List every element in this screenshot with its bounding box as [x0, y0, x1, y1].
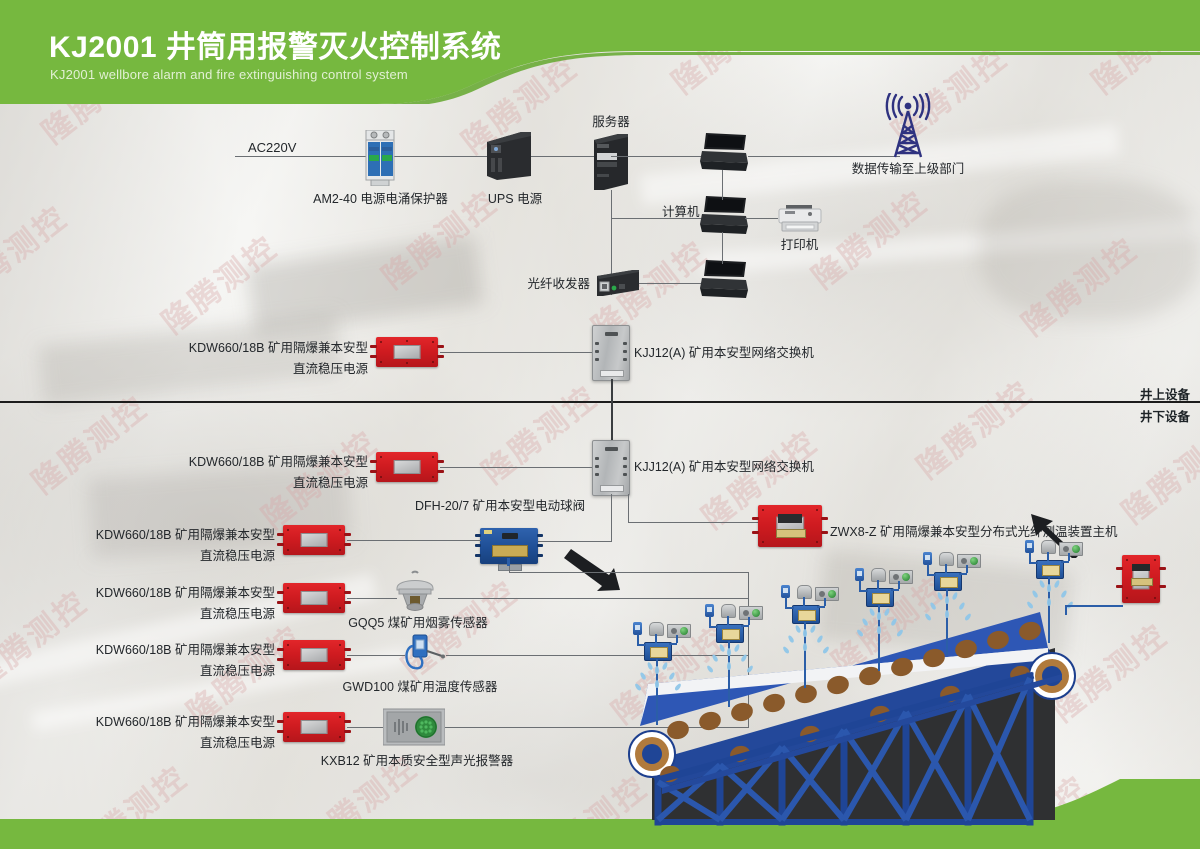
station-wire — [859, 590, 868, 592]
surge-protector-label: AM2-40 电源电涌保护器 — [303, 190, 458, 209]
spray-drop — [803, 643, 807, 651]
computer-3[interactable] — [700, 260, 748, 305]
station-smoke-sensor-icon — [871, 568, 886, 582]
psu-4-to-temp-link — [347, 655, 405, 656]
underground-psu-1-link — [440, 467, 592, 468]
station-alarm-icon — [667, 624, 691, 638]
computer-chain-2 — [722, 232, 723, 264]
station-wire — [709, 616, 711, 626]
surge-protector-icon — [358, 130, 402, 186]
spray-drop — [727, 662, 731, 670]
psu-1-line2: 直流稳压电源 — [293, 476, 368, 490]
station-control-box-icon — [644, 642, 672, 661]
junction-wire-drop — [1065, 605, 1067, 615]
station-wire — [669, 643, 677, 645]
station-wire — [959, 573, 967, 575]
desktop-computer-icon — [700, 133, 748, 173]
underground-psu-3[interactable] — [283, 583, 345, 613]
spray-drop — [877, 612, 881, 620]
surge-protector-device[interactable] — [358, 130, 402, 191]
psu-3-to-smoke-link — [347, 598, 397, 599]
station-control-box-icon — [1036, 560, 1064, 579]
underground-psu-1-label: KDW660/18B 矿用隔爆兼本安型 直流稳压电源 — [168, 452, 368, 494]
station-alarm-icon — [815, 587, 839, 601]
conveyor-junction-box[interactable] — [1122, 555, 1160, 603]
server-tower-icon — [594, 134, 628, 190]
station-wire — [1029, 562, 1038, 564]
station-wire — [785, 607, 794, 609]
above-ground-label: 井上设备 — [1140, 386, 1190, 405]
smoke-sensor-device[interactable] — [392, 570, 438, 617]
underground-psu-2[interactable] — [283, 525, 345, 555]
spray-drop — [877, 626, 881, 634]
desktop-computer-icon — [700, 196, 748, 236]
station-wire — [803, 597, 805, 606]
page-subtitle: KJ2001 wellbore alarm and fire extinguis… — [50, 67, 408, 82]
psu-2-to-valve-link — [347, 540, 481, 541]
station-wire — [727, 616, 729, 625]
station-smoke-sensor-icon — [721, 604, 736, 618]
station-control-box-icon — [934, 572, 962, 591]
media-converter-label: 光纤收发器 — [505, 275, 590, 294]
station-smoke-sensor-icon — [649, 622, 664, 636]
station-wire — [945, 564, 947, 573]
station-wire — [1029, 552, 1031, 562]
surface-underground-divider — [0, 401, 1200, 403]
psu-4-line2: 直流稳压电源 — [200, 664, 275, 678]
station-wire — [655, 634, 657, 643]
spray-drop — [727, 648, 731, 656]
station-wire — [891, 589, 899, 591]
psu-3-line2: 直流稳压电源 — [200, 607, 275, 621]
station-alarm-icon — [1059, 542, 1083, 556]
surface-switch-device[interactable] — [592, 325, 630, 381]
station-wire — [824, 598, 826, 606]
station-wire — [785, 597, 787, 607]
psu-4-line1: KDW660/18B 矿用隔爆兼本安型 — [96, 643, 275, 657]
smoke-sensor-icon — [392, 570, 438, 612]
diagram-canvas: 隆腾测控 隆腾测控 隆腾测控 隆腾测控 隆腾测控 隆腾测控 隆腾测控 隆腾测控 … — [0, 0, 1200, 849]
station-wire — [859, 580, 861, 590]
uplink-line — [748, 156, 900, 157]
station-alarm-icon — [739, 606, 763, 620]
fiber-media-converter-icon — [597, 270, 639, 296]
psu-1-line1: KDW660/18B 矿用隔爆兼本安型 — [189, 455, 368, 469]
psu-5-to-alarm-link — [347, 727, 385, 728]
underground-psu-1[interactable] — [376, 452, 438, 482]
switch-to-dts-vertical — [628, 494, 629, 522]
station-wire — [927, 564, 929, 574]
station-alarm-icon — [889, 570, 913, 584]
underground-psu-4[interactable] — [283, 640, 345, 670]
spray-drop — [1047, 584, 1051, 592]
station-wire — [748, 617, 750, 625]
sound-light-alarm-label: KXB12 矿用本质安全型声光报警器 — [312, 752, 522, 771]
station-wire — [709, 626, 718, 628]
uplink-label: 数据传输至上级部门 — [840, 160, 976, 179]
backbone-vertical — [611, 379, 613, 447]
server-to-computer-link — [611, 156, 709, 157]
spray-drop — [1047, 598, 1051, 606]
surface-psu-label: KDW660/18B 矿用隔爆兼本安型 直流稳压电源 — [168, 338, 368, 380]
spray-drop — [655, 666, 659, 674]
ups-device[interactable] — [487, 132, 531, 185]
ups-icon — [487, 132, 531, 180]
psu-5-line1: KDW660/18B 矿用隔爆兼本安型 — [96, 715, 275, 729]
ac-power-label: AC220V — [248, 138, 296, 158]
temperature-sensor-device[interactable] — [398, 633, 446, 680]
computer-2[interactable] — [700, 196, 748, 241]
uplink-antenna[interactable] — [882, 93, 934, 159]
underground-switch-device[interactable] — [592, 440, 630, 496]
spray-drop — [945, 610, 949, 618]
server-device[interactable] — [594, 134, 628, 195]
smoke-sensor-label: GQQ5 煤矿用烟雾传感器 — [348, 614, 488, 633]
psu-2-line1: KDW660/18B 矿用隔爆兼本安型 — [96, 528, 275, 542]
station-wire — [966, 565, 968, 573]
computer-row3-link — [636, 283, 709, 284]
computer-label: 计算机 — [662, 203, 700, 222]
station-control-box-icon — [866, 588, 894, 607]
printer-label: 打印机 — [762, 236, 837, 255]
underground-label: 井下设备 — [1140, 408, 1190, 427]
spray-drop — [803, 629, 807, 637]
printer-device[interactable] — [776, 205, 824, 240]
page-title: KJ2001 井筒用报警灭火控制系统 — [49, 22, 501, 66]
underground-psu-4-label: KDW660/18B 矿用隔爆兼本安型 直流稳压电源 — [75, 640, 275, 682]
station-wire — [676, 635, 678, 643]
surface-psu-device[interactable] — [376, 337, 438, 367]
temperature-sensor-icon — [398, 633, 446, 675]
station-smoke-sensor-icon — [939, 552, 954, 566]
psu-5-line2: 直流稳压电源 — [200, 736, 275, 750]
station-wire — [637, 644, 646, 646]
spray-drop — [655, 680, 659, 688]
electric-ball-valve-device[interactable] — [480, 528, 538, 564]
underground-switch-label: KJJ12(A) 矿用本安型网络交换机 — [634, 458, 814, 477]
printer-link — [745, 218, 778, 219]
radio-tower-icon — [882, 93, 934, 159]
junction-to-conveyor-wire — [1065, 605, 1123, 607]
psu-3-line1: KDW660/18B 矿用隔爆兼本安型 — [96, 586, 275, 600]
server-label: 服务器 — [570, 113, 652, 132]
media-converter-device[interactable] — [597, 270, 639, 301]
psu-2-line2: 直流稳压电源 — [200, 549, 275, 563]
temperature-sensor-label: GWD100 煤矿用温度传感器 — [340, 678, 500, 697]
station-wire — [741, 625, 749, 627]
sound-light-alarm-icon — [383, 707, 445, 747]
surface-switch-label: KJJ12(A) 矿用本安型网络交换机 — [634, 344, 814, 363]
station-wire — [1061, 561, 1069, 563]
switch-to-dts-link — [628, 522, 758, 523]
station-wire — [898, 581, 900, 589]
station-wire — [1068, 553, 1070, 561]
computer-chain-1 — [722, 170, 723, 200]
underground-psu-5-label: KDW660/18B 矿用隔爆兼本安型 直流稳压电源 — [75, 712, 275, 754]
page-header: KJ2001 井筒用报警灭火控制系统 KJ2001 wellbore alarm… — [0, 0, 1200, 104]
desktop-computer-icon — [700, 260, 748, 300]
station-wire — [1047, 552, 1049, 561]
station-control-box-icon — [792, 605, 820, 624]
station-control-box-icon — [716, 624, 744, 643]
station-alarm-icon — [957, 554, 981, 568]
underground-psu-5[interactable] — [283, 712, 345, 742]
surface-psu-label-line2: 直流稳压电源 — [293, 362, 368, 376]
station-smoke-sensor-icon — [1041, 540, 1056, 554]
station-wire — [877, 580, 879, 589]
electric-ball-valve-label: DFH-20/7 矿用本安型电动球阀 — [415, 497, 585, 516]
station-wire — [927, 574, 936, 576]
ups-label: UPS 电源 — [470, 190, 560, 209]
underground-psu-2-label: KDW660/18B 矿用隔爆兼本安型 直流稳压电源 — [75, 525, 275, 567]
valve-drop-link — [509, 566, 510, 573]
underground-psu-3-label: KDW660/18B 矿用隔爆兼本安型 直流稳压电源 — [75, 583, 275, 625]
surface-psu-link — [440, 352, 592, 353]
station-smoke-sensor-icon — [797, 585, 812, 599]
computer-1[interactable] — [700, 133, 748, 178]
sound-light-alarm-device[interactable] — [383, 707, 445, 752]
spray-drop — [945, 596, 949, 604]
station-wire — [817, 606, 825, 608]
surface-psu-label-line1: KDW660/18B 矿用隔爆兼本安型 — [189, 341, 368, 355]
printer-icon — [776, 205, 824, 235]
station-wire — [637, 634, 639, 644]
